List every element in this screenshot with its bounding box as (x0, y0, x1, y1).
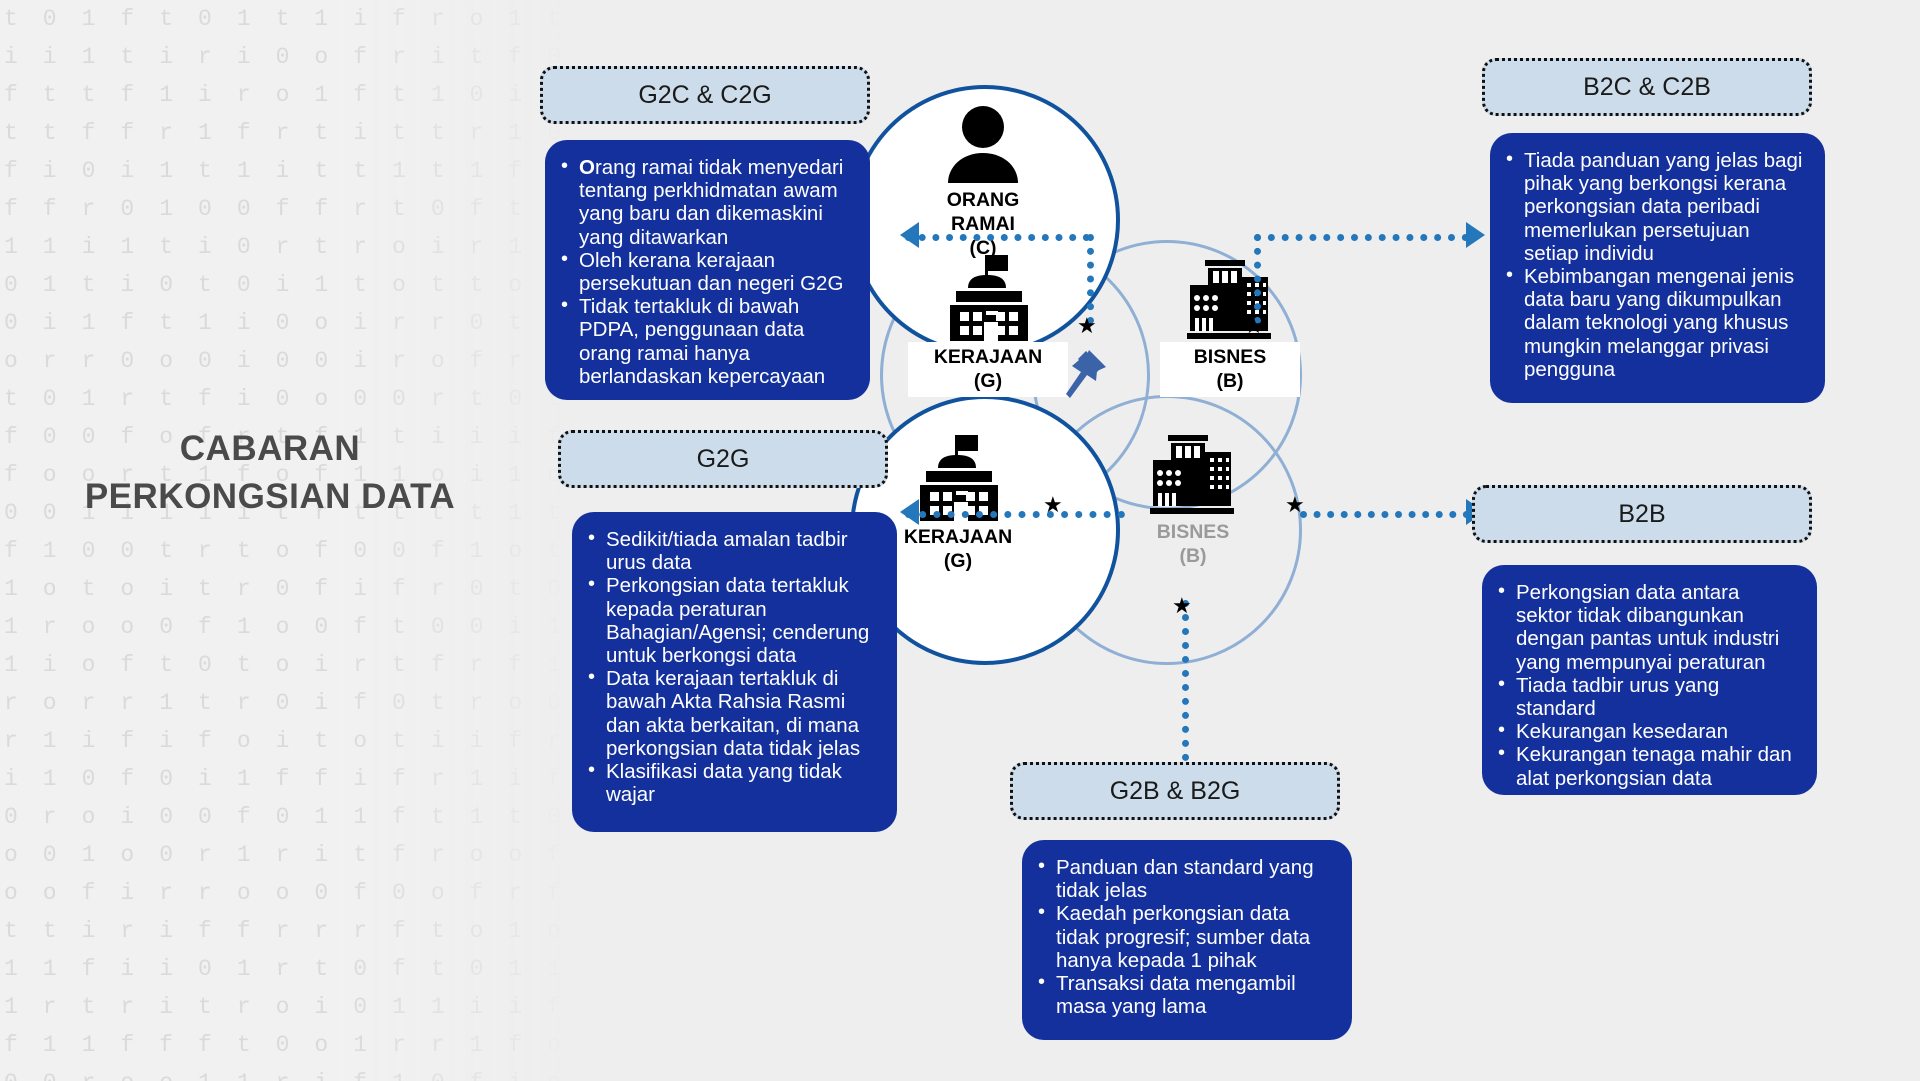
panel-g2c-c2g: Orang ramai tidak menyedari tentang perk… (545, 140, 870, 400)
binary-row: oofirroo0f0ofrfro10fi1 (0, 874, 600, 912)
binary-row: ttiriffrrrfto1or0r11o0 (0, 912, 600, 950)
binary-row: 1ioft0toirtfrf1ttt1tif (0, 646, 600, 684)
binary-row: ii1tiri0ofritf0orroo1t (0, 38, 600, 76)
binary-row: i10f0i1ffifr1if110rto0 (0, 760, 600, 798)
binary-row: r1ififoitotiifrf11o11t (0, 722, 600, 760)
panel-g2b-b2g: Panduan dan standard yang tidak jelas Ka… (1022, 840, 1352, 1040)
binary-row: 01ti0t0i1tottotititoft (0, 266, 600, 304)
person-icon (938, 105, 1028, 188)
binary-row: orr0o0i00irofrot1ifroi (0, 342, 600, 380)
venn-diagram: ORANG RAMAI (C) KERAJAAN (G) (860, 80, 1420, 700)
panel-g2g: Sedikit/tiada amalan tadbir urus data Pe… (572, 512, 897, 832)
star-marker-b2b: ★ (1285, 494, 1305, 516)
list-item: Data kerajaan tertakluk di bawah Akta Ra… (586, 667, 879, 760)
list-item: Panduan dan standard yang tidak jelas (1036, 856, 1334, 902)
pushpin-icon (1056, 348, 1108, 409)
connector-g2b-vertical (1182, 600, 1189, 775)
connector-b2c-vertical (1254, 234, 1261, 324)
header-b2b[interactable]: B2B (1472, 485, 1812, 543)
list-item: Tiada panduan yang jelas bagi pihak yang… (1504, 149, 1807, 265)
binary-row: t01rtfi0o00rt0t1ifi01r (0, 380, 600, 418)
header-g2c-c2g-label: G2C & C2G (638, 81, 771, 110)
bullet-list-g2b-b2g: Panduan dan standard yang tidak jelas Ka… (1036, 856, 1334, 1018)
connector-g2g-arrowhead (900, 499, 919, 525)
binary-row: 0roi00f011ft1t00ooioto (0, 798, 600, 836)
connector-g2g-horizontal (905, 511, 1125, 518)
header-b2c-c2b-label: B2C & C2B (1583, 73, 1711, 102)
bullet-list-b2c-c2b: Tiada panduan yang jelas bagi pihak yang… (1504, 149, 1807, 381)
list-item: Tiada tadbir urus yang standard (1496, 674, 1799, 720)
bullet-list-g2g: Sedikit/tiada amalan tadbir urus data Pe… (586, 528, 879, 806)
node-label-kerajaan-bottom: KERAJAAN (G) (878, 522, 1038, 577)
business-buildings-icon (1148, 430, 1238, 521)
connector-g2c-vertical (1087, 234, 1094, 324)
binary-row: t01ft01t1ifro1tfor0tr0 (0, 0, 600, 38)
header-g2b-b2g-label: G2B & B2G (1110, 777, 1241, 806)
header-g2g[interactable]: G2G (558, 430, 888, 488)
page-title-line2: PERKONGSIAN DATA (60, 473, 480, 521)
header-g2g-label: G2G (697, 445, 750, 474)
list-item: Tidak tertakluk di bawah PDPA, penggunaa… (559, 295, 852, 388)
list-item: Sedikit/tiada amalan tadbir urus data (586, 528, 879, 574)
bullet-list-g2c-c2g: Orang ramai tidak menyedari tentang perk… (559, 156, 852, 388)
header-b2b-label: B2B (1618, 500, 1665, 529)
star-marker-g2b: ★ (1172, 595, 1192, 617)
node-label-bisnes-bottom: BISNES (B) (1123, 520, 1263, 568)
list-item: Kaedah perkongsian data tidak progresif;… (1036, 902, 1334, 972)
connector-g2c-arrowhead (900, 222, 919, 248)
list-item: Kebimbangan mengenai jenis data baru yan… (1504, 265, 1807, 381)
binary-row: 1otoitr0fifr0t0o101ioi (0, 570, 600, 608)
binary-row: o01o0r1ritfroofoifoti0 (0, 836, 600, 874)
connector-b2c-arrowhead (1466, 222, 1485, 248)
binary-row: 11i1ti0rtroir1fi1t10ro (0, 228, 600, 266)
node-label-bisnes-top: BISNES (B) (1160, 342, 1300, 397)
binary-row: 00roo11rif10fioiotfri1 (0, 1064, 600, 1081)
list-item: Transaksi data mengambil masa yang lama (1036, 972, 1334, 1018)
list-item: Kekurangan tenaga mahir dan alat perkong… (1496, 743, 1799, 789)
star-marker-g2c: ★ (1077, 315, 1097, 337)
bullet-list-b2b: Perkongsian data antara sektor tidak dib… (1496, 581, 1799, 790)
binary-row: f100trtof00f1ot10tt011 (0, 532, 600, 570)
panel-b2c-c2b: Tiada panduan yang jelas bagi pihak yang… (1490, 133, 1825, 403)
connector-b2c-horizontal (1254, 234, 1469, 241)
list-item: Orang ramai tidak menyedari tentang perk… (559, 156, 852, 249)
government-building-icon (942, 255, 1036, 346)
binary-row: fi0i1t1itt1t1ftf0rooot (0, 152, 600, 190)
binary-row: fttf1iro1ft10iooiotttf (0, 76, 600, 114)
star-marker-b2c: ★ (1244, 315, 1264, 337)
binary-row: ttffr1frtittr100oifior (0, 114, 600, 152)
page-title: CABARAN PERKONGSIAN DATA (60, 425, 480, 521)
list-item: Perkongsian data antara sektor tidak dib… (1496, 581, 1799, 674)
header-g2b-b2g[interactable]: G2B & B2G (1010, 762, 1340, 820)
connector-g2c-horizontal (905, 234, 1090, 241)
list-item: Klasifikasi data yang tidak wajar (586, 760, 879, 806)
binary-row: 1rtritroi011iif0ffot1r (0, 988, 600, 1026)
binary-row: 11fii01rt0ft011orfotoo (0, 950, 600, 988)
binary-row: ffr0100ffrt0ft0ofof1r0 (0, 190, 600, 228)
connector-b2b-horizontal (1300, 511, 1470, 518)
header-g2c-c2g[interactable]: G2C & C2G (540, 66, 870, 124)
header-b2c-c2b[interactable]: B2C & C2B (1482, 58, 1812, 116)
list-item: Kekurangan kesedaran (1496, 720, 1799, 743)
star-marker-g2g: ★ (1043, 494, 1063, 516)
panel-b2b: Perkongsian data antara sektor tidak dib… (1482, 565, 1817, 795)
binary-row: rorr1tr0if0tro0tt00fto (0, 684, 600, 722)
binary-row: 1roo0f1o0ft00i1o1rro1o (0, 608, 600, 646)
page-title-line1: CABARAN (60, 425, 480, 473)
list-item: Oleh kerana kerajaan persekutuan dan neg… (559, 249, 852, 295)
binary-row: 0i1ft1i0oirr0ttr0itior (0, 304, 600, 342)
binary-row: f11ffft0o1rr1fo0r11ott (0, 1026, 600, 1064)
list-item: Perkongsian data tertakluk kepada peratu… (586, 574, 879, 667)
node-label-orang-ramai: ORANG RAMAI (C) (893, 188, 1073, 260)
node-label-kerajaan-top: KERAJAAN (G) (908, 342, 1068, 397)
binary-background-pattern: t01ft01t1ifro1tfor0tr0ii1tiri0ofritf0orr… (0, 0, 600, 1081)
